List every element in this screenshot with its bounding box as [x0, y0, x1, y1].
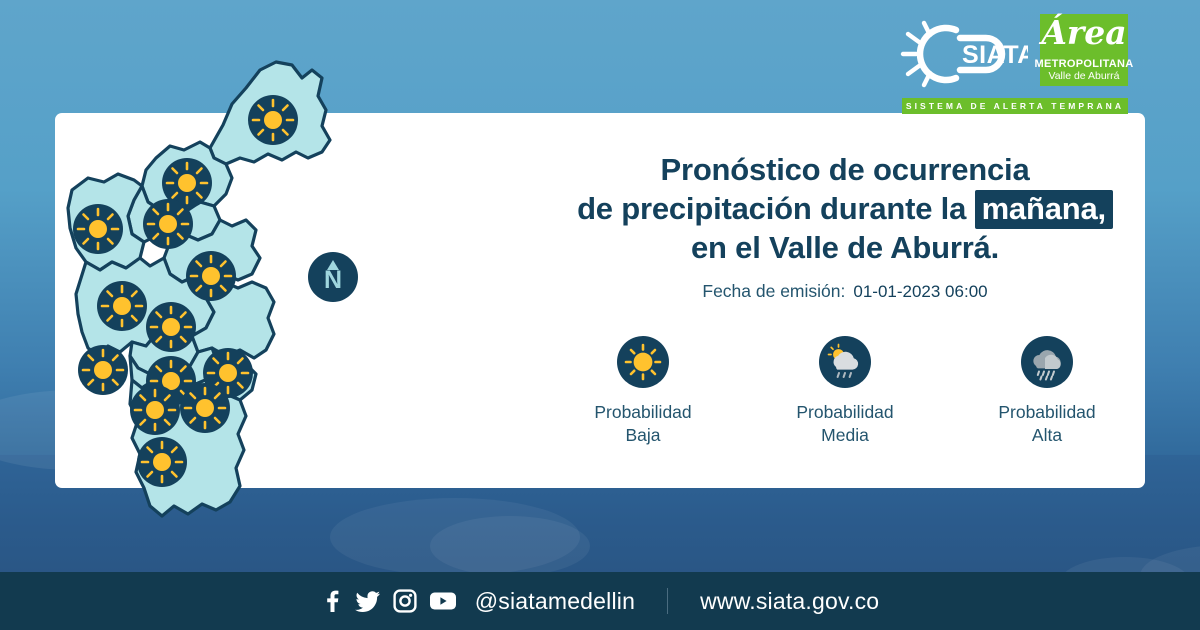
cloud-rain-icon — [1021, 336, 1073, 388]
infographic-canvas: SIATA Área METROPOLITANA Valle de Aburrá… — [0, 0, 1200, 630]
tagline-text: SISTEMA DE ALERTA TEMPRANA — [906, 101, 1124, 111]
legend-label-baja: Probabilidad Baja — [594, 401, 691, 447]
probability-legend: Probabilidad Baja — [545, 336, 1145, 447]
valle-de-aburra-map: N — [60, 30, 530, 575]
station-marker-barbosa[interactable] — [248, 95, 298, 145]
legend-label-media-line2: Media — [796, 424, 893, 447]
page-title: Pronóstico de ocurrencia de precipitació… — [545, 150, 1145, 267]
title-line-2: de precipitación durante la mañana, — [545, 189, 1145, 228]
legend-item-alta: Probabilidad Alta — [983, 336, 1111, 447]
station-marker-medellin-norte[interactable] — [97, 281, 147, 331]
forecast-panel: Pronóstico de ocurrencia de precipitació… — [545, 150, 1145, 447]
title-line-1: Pronóstico de ocurrencia — [545, 150, 1145, 189]
area-line-2: Valle de Aburrá — [1048, 70, 1119, 82]
area-script-text: Área — [1040, 16, 1128, 49]
issue-date-value: 01-01-2023 06:00 — [853, 282, 987, 302]
social-handle[interactable]: @siatamedellin — [475, 588, 635, 615]
sun-cloud-rain-icon — [819, 336, 871, 388]
legend-label-media: Probabilidad Media — [796, 401, 893, 447]
legend-label-baja-line2: Baja — [594, 424, 691, 447]
instagram-icon[interactable] — [393, 589, 417, 613]
youtube-icon[interactable] — [429, 590, 457, 612]
website-url[interactable]: www.siata.gov.co — [700, 588, 879, 615]
legend-label-alta-line2: Alta — [998, 424, 1095, 447]
area-line-1: METROPOLITANA — [1034, 58, 1133, 70]
compass-label: N — [324, 266, 342, 294]
siata-wordmark: SIATA — [962, 41, 1028, 69]
station-marker-medellin-occidente[interactable] — [78, 345, 128, 395]
sun-icon — [617, 336, 669, 388]
logo-cluster: SIATA Área METROPOLITANA Valle de Aburrá… — [898, 14, 1128, 114]
station-marker-medellin-centro[interactable] — [146, 302, 196, 352]
facebook-icon[interactable] — [321, 589, 343, 613]
issue-date: Fecha de emisión: 01-01-2023 06:00 — [545, 281, 1145, 302]
social-links — [321, 589, 457, 613]
legend-item-baja: Probabilidad Baja — [579, 336, 707, 447]
compass-north-badge: N — [308, 252, 358, 302]
legend-item-media: Probabilidad Media — [781, 336, 909, 447]
legend-label-baja-line1: Probabilidad — [594, 401, 691, 424]
station-marker-caldas[interactable] — [137, 437, 187, 487]
station-marker-san-pedro[interactable] — [73, 204, 123, 254]
issue-date-label: Fecha de emisión: — [702, 281, 845, 302]
legend-label-alta-line1: Probabilidad — [998, 401, 1095, 424]
title-line-2-text: de precipitación durante la — [577, 191, 975, 226]
title-line-3: en el Valle de Aburrá. — [545, 228, 1145, 267]
tagline-bar: SISTEMA DE ALERTA TEMPRANA — [902, 98, 1128, 114]
footer-divider — [667, 588, 668, 614]
footer-bar: @siatamedellin www.siata.gov.co — [0, 572, 1200, 630]
highlight-period: mañana, — [975, 190, 1113, 229]
area-metropolitana-logo: Área METROPOLITANA Valle de Aburrá — [1040, 14, 1128, 86]
legend-label-alta: Probabilidad Alta — [998, 401, 1095, 447]
siata-logo: SIATA — [898, 16, 1028, 92]
twitter-icon[interactable] — [355, 589, 381, 613]
station-marker-la-estrella[interactable] — [180, 383, 230, 433]
legend-label-media-line1: Probabilidad — [796, 401, 893, 424]
station-marker-sabaneta[interactable] — [130, 385, 180, 435]
station-marker-copacabana[interactable] — [143, 199, 193, 249]
station-marker-bello[interactable] — [186, 251, 236, 301]
